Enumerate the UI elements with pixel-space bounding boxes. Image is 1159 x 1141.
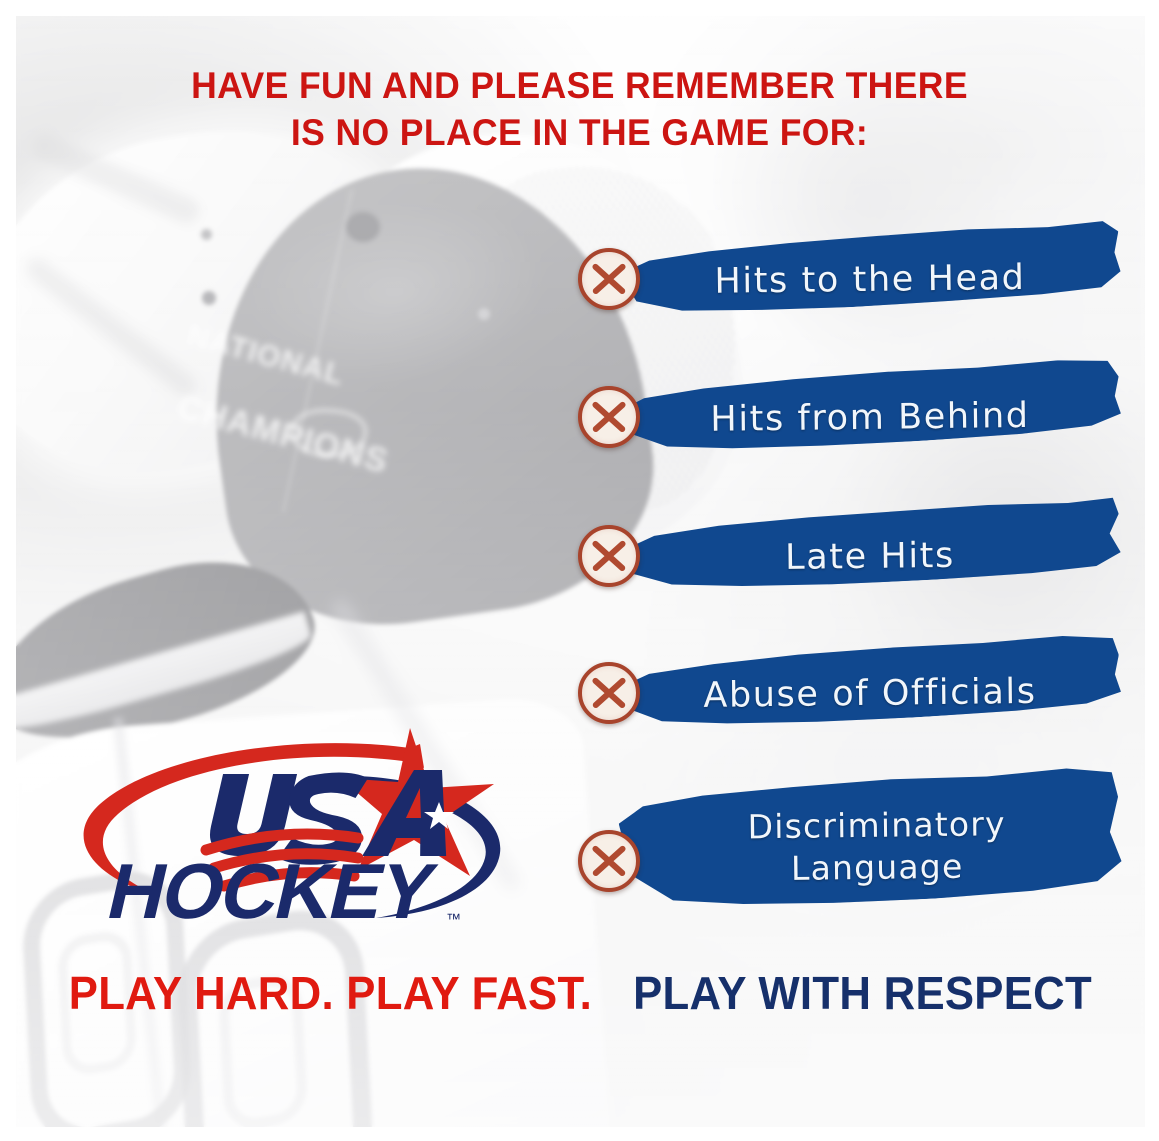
- x-circle-icon: [578, 386, 640, 448]
- rule-label: Late Hits: [567, 495, 1148, 622]
- rule-label: Hits to the Head: [567, 218, 1148, 345]
- rule-label: Discriminatory Language: [567, 770, 1149, 927]
- rule-item: Hits to the Head: [568, 222, 1148, 342]
- cap-eyelet: [478, 308, 490, 320]
- usa-hockey-respect-poster: NATIONAL CHAMPIONS HAVE FUN AND PLEASE R…: [0, 0, 1159, 1141]
- cap-top-button: [346, 212, 380, 242]
- x-circle-icon: [578, 525, 640, 587]
- cap-embroidery-line-1: NATIONAL: [184, 319, 348, 393]
- cap-eyelet: [201, 229, 212, 240]
- logo-trademark: ™: [446, 911, 461, 928]
- svg-text:HOCKEY: HOCKEY: [100, 847, 443, 933]
- rule-label: Abuse of Officials: [567, 632, 1148, 759]
- tagline: PLAY HARD. PLAY FAST.PLAY WITH RESPECT: [0, 966, 1159, 1020]
- x-circle-icon: [578, 248, 640, 310]
- rule-label: Hits from Behind: [567, 356, 1148, 483]
- headline-line-1: HAVE FUN AND PLEASE REMEMBER THERE: [23, 62, 1136, 109]
- cap-embroidery: NATIONAL CHAMPIONS: [153, 297, 458, 534]
- rule-item: Abuse of Officials: [568, 636, 1148, 756]
- tagline-navy-part: PLAY WITH RESPECT: [633, 966, 1092, 1020]
- rule-item: Discriminatory Language: [568, 774, 1148, 924]
- logo-hockey-text: HOCKEY: [100, 847, 443, 933]
- usa-hockey-logo: HOCKEY ™: [58, 718, 528, 933]
- x-circle-icon: [578, 662, 640, 724]
- prohibited-behaviour-list: Hits to the Head Hits from Behind Late H…: [568, 222, 1148, 942]
- rule-item: Late Hits: [568, 499, 1148, 619]
- headline: HAVE FUN AND PLEASE REMEMBER THERE IS NO…: [0, 62, 1159, 156]
- tagline-red-part: PLAY HARD. PLAY FAST.: [68, 966, 591, 1020]
- cap-eyelet: [202, 291, 216, 305]
- headline-line-2: IS NO PLACE IN THE GAME FOR:: [23, 109, 1136, 156]
- rule-item: Hits from Behind: [568, 360, 1148, 480]
- x-circle-icon: [578, 830, 640, 892]
